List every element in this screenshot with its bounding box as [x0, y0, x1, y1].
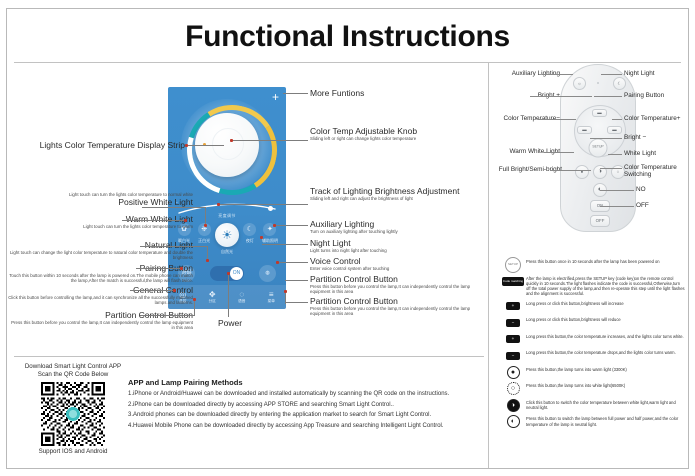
leader-dot [230, 139, 233, 142]
leader-line [538, 119, 576, 120]
legend-row: ◐ Press this button to switch the lamp b… [500, 415, 685, 428]
header-divider [14, 62, 681, 63]
navbar-item-label: 语音 [238, 299, 245, 303]
leader-line [285, 292, 286, 304]
legend-row: + Long press or click this button,bright… [500, 300, 685, 313]
app-icon-night-light[interactable]: ☾ 夜灯 [240, 223, 260, 244]
leader-line [130, 290, 174, 291]
qr-download-block: Download Smart Light Control APP Scan th… [18, 363, 128, 455]
legend-row: Code matching After the lamp is electrif… [500, 275, 685, 297]
legend-text: Press this button to switch the lamp bet… [526, 415, 685, 426]
pairing-methods-heading: APP and Lamp Pairing Methods [128, 378, 478, 387]
app-icon-label: 夜灯 [246, 238, 254, 243]
callout-sub: Enter voice control system after touchin… [310, 266, 485, 271]
auxiliary-lighting-button[interactable]: ☼ [573, 77, 586, 90]
voice-control-button[interactable]: ◍ [259, 265, 276, 282]
leader-line [612, 119, 622, 120]
callout-sub: Light touch can turn the lights color te… [8, 224, 193, 229]
warm-light-icon: ● [500, 366, 526, 379]
legend-row: ○ Press this button,the lamp turns into … [500, 382, 685, 395]
icon-glyph: + [506, 335, 520, 343]
leader-line [590, 138, 622, 139]
app-icon-label: 辅助照明 [262, 238, 278, 243]
leader-dot [193, 298, 196, 301]
qr-code-svg [41, 382, 105, 446]
callout-voice-control: Voice Control Enter voice control system… [310, 256, 485, 271]
leader-line [283, 93, 308, 94]
menu-icon: ≡ [259, 290, 283, 299]
callout-positive-white-light: Light touch can turn the lights color te… [8, 192, 193, 207]
callout-color-temp-display-strip: Lights Color Temperature Display Strip [10, 140, 185, 150]
pairing-method-item: 4.Huawei Mobile Phone can be downloaded … [128, 422, 478, 430]
bright-plus-icon: + [500, 300, 526, 313]
leader-line [278, 262, 308, 263]
remote-label-off: OFF [636, 202, 649, 209]
callout-sub: Sliding left and right can adjust the br… [310, 196, 485, 201]
leader-line [186, 145, 224, 146]
code-matching-badge: Code matching [500, 275, 526, 288]
leader-dot [206, 259, 209, 262]
button-legend-list: SETUP Press this button once in 10 secon… [500, 258, 685, 432]
leader-line [542, 74, 573, 75]
leader-line [140, 246, 208, 247]
legend-text: Press this button,the lamp turns into wa… [526, 366, 627, 372]
leader-line [205, 207, 206, 225]
icon-glyph: ◐ [507, 415, 520, 428]
remote-label-color-temperature-switching: Color Temperature Switching [624, 164, 684, 178]
brightness-track-handle[interactable] [268, 206, 273, 211]
leader-line [275, 225, 308, 226]
callout-sub: Touch this button within 10 seconds afte… [8, 273, 193, 284]
leader-line [232, 140, 308, 141]
color-temperature-plus-button[interactable]: ▬ [607, 126, 622, 134]
white-light-icon: ○ [500, 382, 526, 395]
power-toggle-knob: ON [230, 267, 243, 280]
callout-warm-white-light: Warm White Light Light touch can turn th… [8, 214, 193, 229]
callout-title: Track of Lighting Brightness Adjustment [310, 186, 485, 196]
callout-sub: Sliding left or right can change lights … [310, 136, 480, 141]
leader-line [601, 74, 622, 75]
page-title: Functional Instructions [0, 20, 695, 54]
icon-glyph: ◑ [507, 399, 520, 412]
leader-dot [273, 224, 276, 227]
callout-natural-light: Natural Light Light touch can change the… [8, 240, 193, 261]
leader-line [600, 190, 634, 191]
leader-dot [185, 144, 188, 147]
remote-label-pairing-button: Pairing Button [624, 92, 664, 99]
leader-line [600, 168, 622, 169]
callout-sub: Light turns into night light after touch… [310, 248, 485, 253]
leader-line [530, 96, 592, 97]
callout-night-light: Night Light Light turns into night light… [310, 238, 485, 253]
remote-label-night-light: Night Light [624, 70, 655, 77]
app-icon-label: 正白光 [198, 238, 210, 243]
callout-title: Warm White Light [8, 214, 193, 224]
leader-line [262, 244, 308, 245]
legend-text: Press this button,the lamp turns into wh… [526, 382, 625, 388]
voice-icon: ◌ [230, 290, 254, 299]
code-matching-badge-text: Code matching [502, 277, 524, 286]
pairing-method-item: 2.iPhone can be downloaded directly by a… [128, 401, 478, 409]
ir-led-indicator [597, 82, 599, 84]
navbar-item-partition-control-a[interactable]: ✥ 分区 [200, 290, 224, 304]
callout-title: Lights Color Temperature Display Strip [10, 140, 185, 150]
color-temperature-minus-button[interactable]: ▬ [577, 126, 592, 134]
leader-line [285, 302, 308, 303]
bright-plus-button[interactable]: ▬ [592, 109, 607, 117]
night-light-icon: ☾ [243, 223, 256, 236]
leader-line [219, 204, 308, 205]
callout-sub: Press this button before you control the… [8, 320, 193, 331]
app-icon-label: 自然光 [221, 249, 233, 254]
callout-title: Power [200, 318, 260, 328]
legend-text: Long press or click this button,brightne… [526, 300, 624, 306]
pairing-methods-block: APP and Lamp Pairing Methods 1.iPhone or… [128, 378, 478, 432]
icon-glyph: + [506, 302, 520, 310]
remote-label-no: NO [636, 186, 646, 193]
leader-line [207, 246, 208, 260]
color-temp-switch-icon: ◑ [500, 399, 526, 412]
color-temp-minus-icon: − [500, 349, 526, 362]
qr-line-1: Download Smart Light Control APP [18, 363, 128, 371]
night-light-button[interactable]: ☾ [613, 77, 626, 90]
more-functions-icon[interactable]: + [272, 92, 279, 102]
leader-dot [180, 267, 183, 270]
callout-title: Voice Control [310, 256, 485, 266]
lower-divider [14, 356, 484, 357]
leader-dot [276, 261, 279, 264]
leader-line [136, 268, 181, 269]
qr-line-2: Scan the QR Code Below [18, 371, 128, 379]
legend-text: After the lamp is electrified,press the … [526, 275, 685, 297]
color-temp-plus-icon: + [500, 333, 526, 346]
column-divider [488, 63, 489, 468]
leader-line [544, 152, 574, 153]
callout-sub: Click this button before controlling the… [8, 295, 193, 306]
leader-dot [227, 272, 230, 275]
callout-general-control: General Control Click this button before… [8, 285, 193, 306]
callout-title: Positive White Light [8, 197, 193, 207]
qr-code-image [41, 382, 105, 446]
callout-title: Color Temp Adjustable Knob [310, 126, 480, 136]
pairing-setup-button[interactable]: SETUP [589, 139, 608, 158]
remote-label-bright-minus: Bright − [624, 134, 646, 141]
leader-line [600, 206, 634, 207]
instruction-sheet: Functional Instructions + - 亮度调节 ✿ 暖白光 [0, 0, 695, 476]
half-power-icon: ◐ [500, 415, 526, 428]
icon-glyph: − [506, 352, 520, 360]
legend-row: SETUP Press this button once in 10 secon… [500, 258, 685, 271]
leader-line [140, 315, 195, 316]
callout-partition-control-1: Partition Control Button Press this butt… [310, 274, 485, 295]
leader-line [285, 280, 308, 281]
legend-row: ◑ Click this button to switch the color … [500, 399, 685, 412]
callout-title: Partition Control Button [310, 296, 485, 306]
leader-dot [217, 203, 220, 206]
pairing-method-item: 3.Android phones can be downloaded direc… [128, 411, 478, 419]
callout-power: Power [200, 318, 260, 328]
leader-dot [204, 224, 207, 227]
callout-sub: Press this button before you control the… [310, 284, 485, 295]
leader-line [551, 170, 591, 171]
leader-line [122, 220, 185, 221]
icon-glyph: − [506, 319, 520, 327]
legend-row: − Long press or click this button,bright… [500, 316, 685, 329]
leader-dot [260, 236, 263, 239]
legend-text: Click this button to switch the color te… [526, 399, 685, 410]
legend-row: ● Press this button,the lamp turns into … [500, 366, 685, 379]
callout-pairing-button: Pairing Button Touch this button within … [8, 263, 193, 284]
bright-minus-icon: − [500, 316, 526, 329]
leader-line [608, 154, 622, 155]
leader-line [594, 96, 622, 97]
remote-label-white-light: White Light [624, 150, 656, 157]
legend-text: Long press or click this button,brightne… [526, 316, 621, 322]
navbar-item-voice[interactable]: ◌ 语音 [230, 290, 254, 304]
legend-text: Press this button once in 10 seconds aft… [526, 258, 660, 264]
leader-line [142, 207, 205, 208]
legend-text: Long press this button,the color tempera… [526, 333, 684, 339]
callout-auxiliary-lighting: Auxiliary Lighting Turn on auxiliary lig… [310, 219, 485, 234]
icon-glyph: ○ [507, 382, 520, 395]
remote-label-color-temperature-plus: Color Temperature+ [624, 115, 681, 122]
leader-dot [184, 219, 187, 222]
callout-sub: Turn on auxiliary lighting after touchin… [310, 229, 485, 234]
callout-sub: Press this button before you control the… [310, 306, 485, 317]
callout-more-functions: More Funtions [310, 88, 475, 98]
callout-title: More Funtions [310, 88, 475, 98]
callout-brightness-track: Track of Lighting Brightness Adjustment … [310, 186, 485, 201]
leader-line [194, 300, 195, 316]
legend-row: + Long press this button,the color tempe… [500, 333, 685, 346]
callout-title: Night Light [310, 238, 485, 248]
app-icon-auxiliary-lighting[interactable]: ✦ 辅助照明 [260, 223, 280, 244]
setup-button-icon: SETUP [500, 258, 526, 271]
legend-text: Long press this button,the color tempera… [526, 349, 676, 355]
leader-dot [173, 289, 176, 292]
callout-title: Auxiliary Lighting [310, 219, 485, 229]
callout-color-temp-knob: Color Temp Adjustable Knob Sliding left … [310, 126, 480, 141]
navbar-item-label: 分区 [209, 299, 216, 303]
legend-row: − Long press this button,the color tempe… [500, 349, 685, 362]
icon-glyph: ● [507, 366, 520, 379]
natural-light-icon: ☀ [215, 223, 239, 247]
qr-caption: Support IOS and Android [18, 448, 128, 455]
callout-title: Partition Control Button [310, 274, 485, 284]
partition-control-icon: ✥ [200, 290, 224, 299]
app-icon-natural-light[interactable]: ☀ 自然光 [214, 223, 240, 255]
callout-partition-control-left: Partition Control Button Press this butt… [8, 310, 193, 331]
callout-title: Natural Light [8, 240, 193, 250]
callout-sub: Light touch can change the light color t… [8, 250, 193, 261]
pairing-method-item: 1.iPhone or Android/Huawei can be downlo… [128, 390, 478, 398]
warm-white-light-button[interactable]: ● [575, 165, 589, 179]
callout-partition-control-2: Partition Control Button Press this butt… [310, 296, 485, 317]
navbar-item-label: 菜单 [268, 299, 275, 303]
off-button[interactable]: OFF [590, 215, 610, 227]
navbar-item-partition-control-b[interactable]: ≡ 菜单 [259, 290, 283, 304]
leader-line [228, 273, 229, 317]
leader-dot [284, 290, 287, 293]
setup-icon-text: SETUP [505, 257, 521, 273]
